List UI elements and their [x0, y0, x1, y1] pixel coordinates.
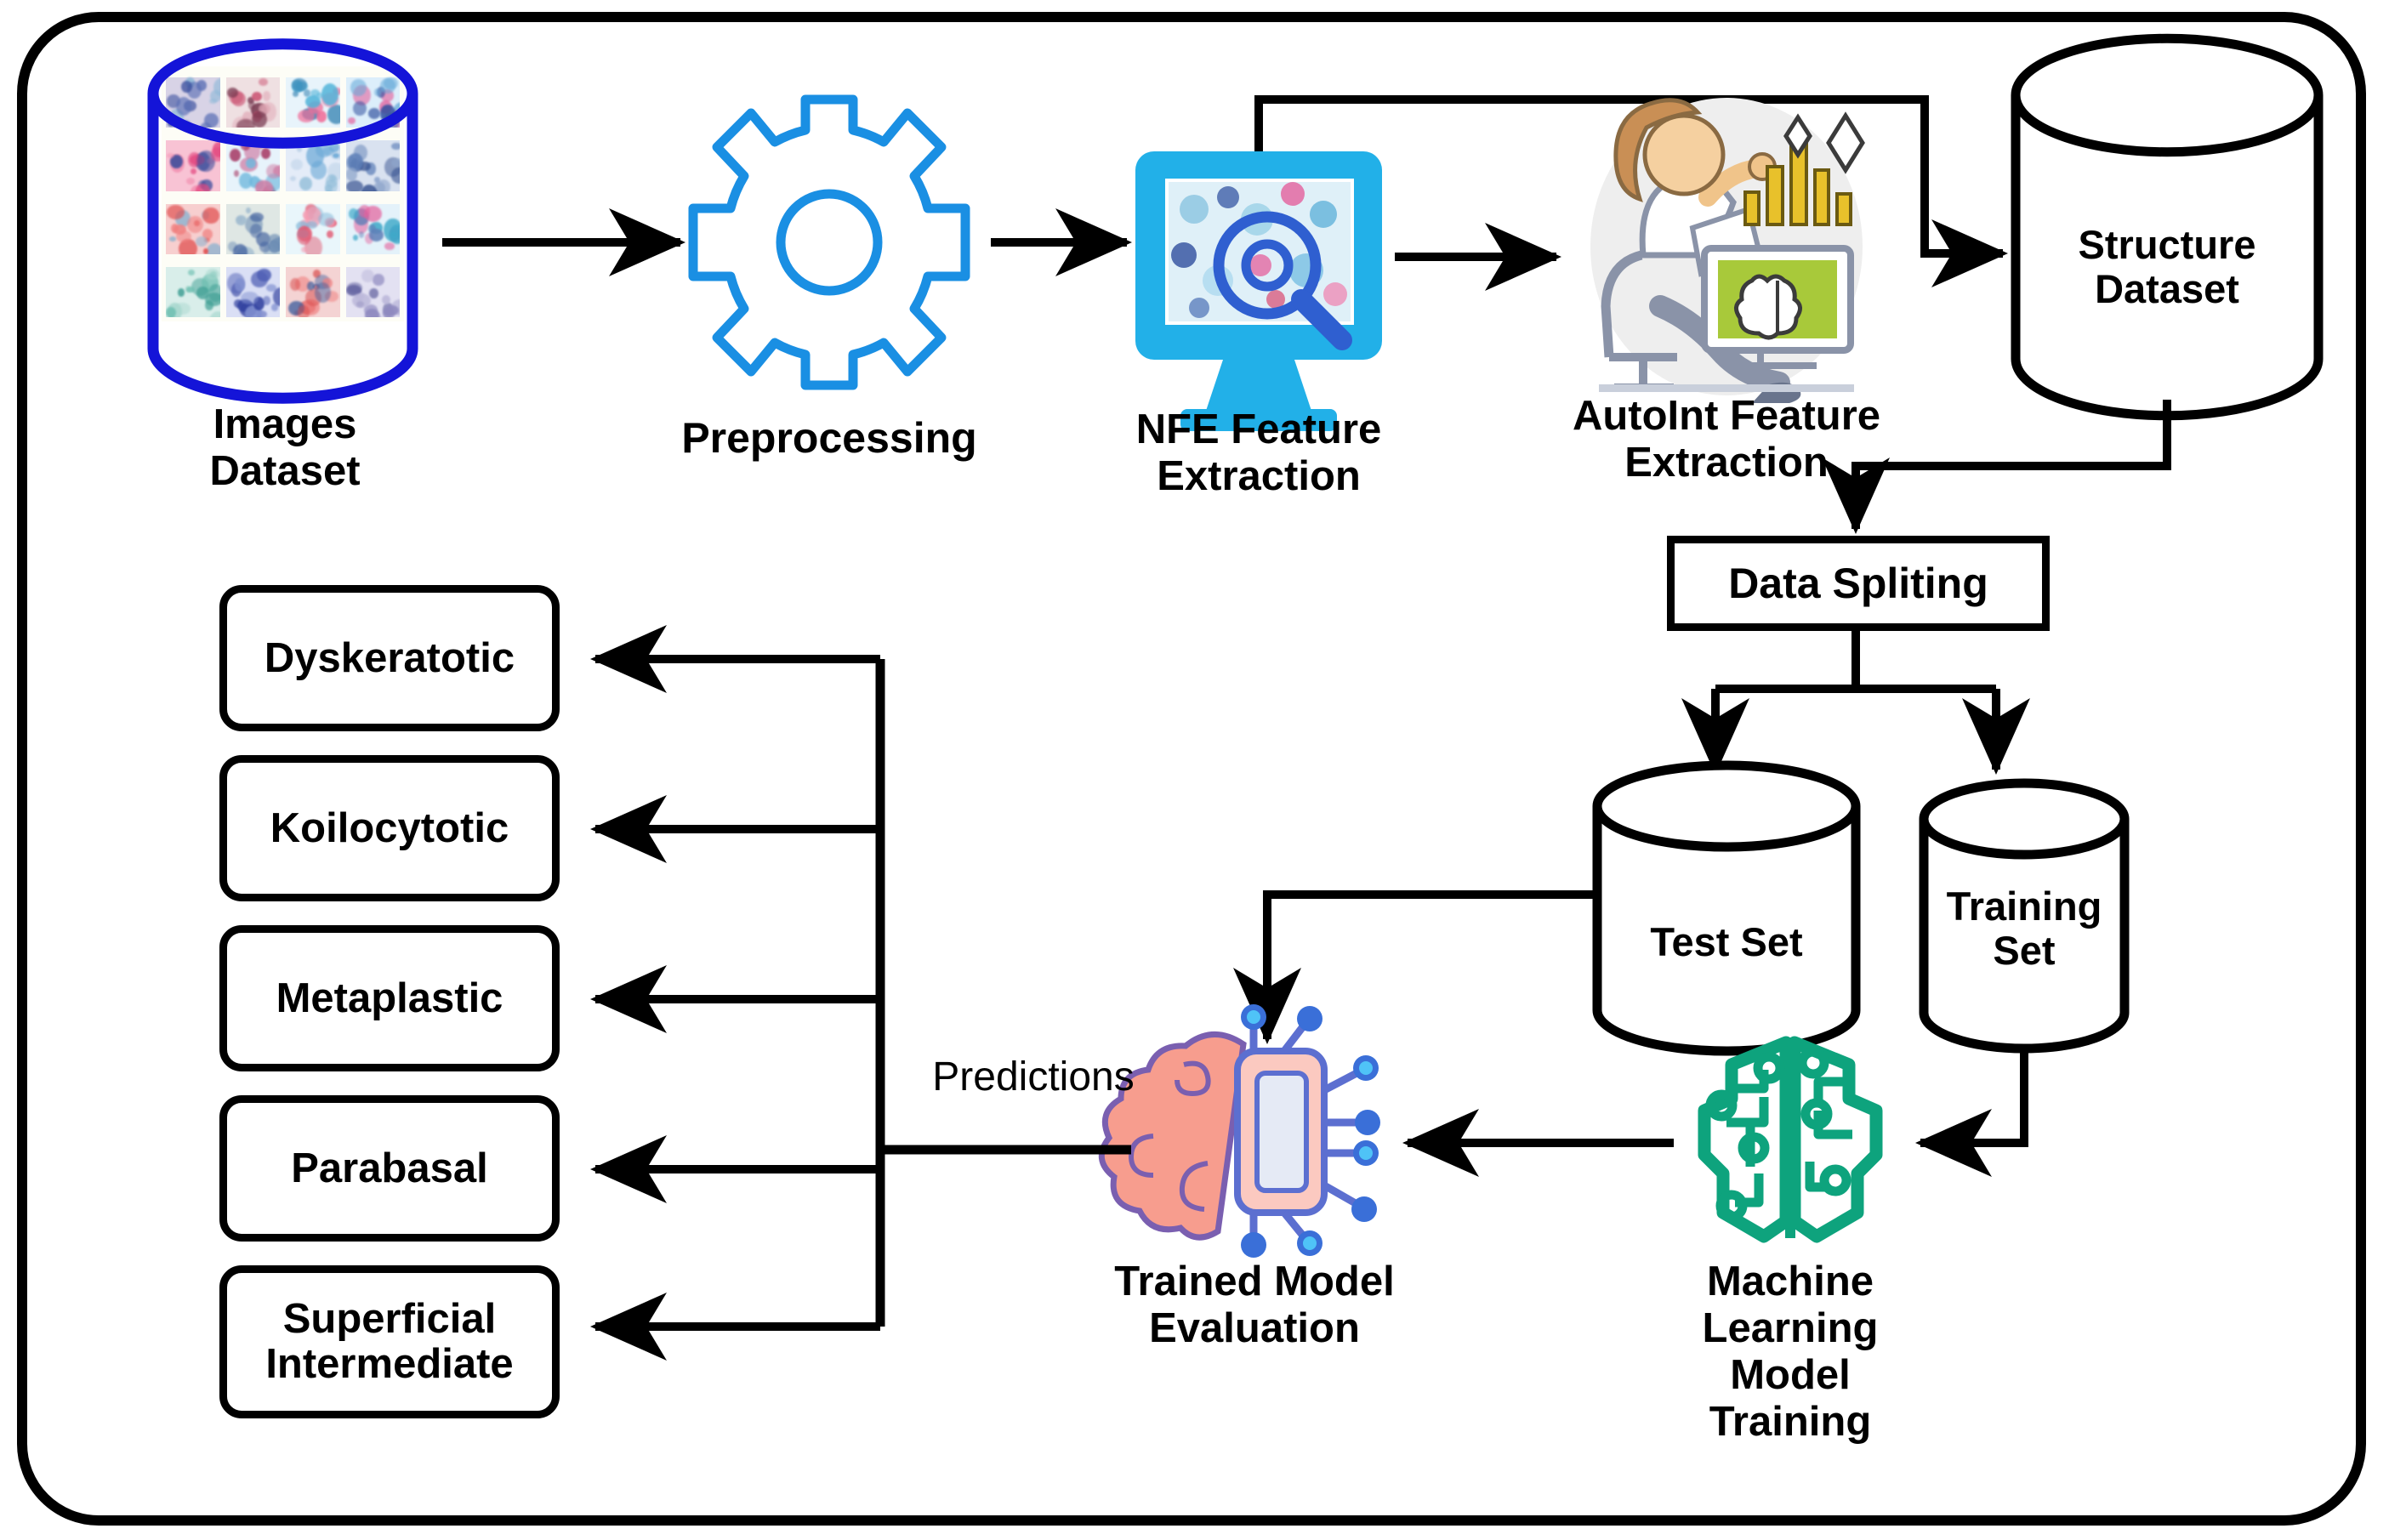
training-set-label: Training Set: [1920, 884, 2128, 972]
autoint-label: AutoInt Feature Extraction: [1501, 393, 1952, 486]
histology-thumbnail: [346, 71, 401, 128]
class-box-koilocytotic[interactable]: Koilocytotic: [219, 755, 560, 901]
histology-thumbnail: [166, 197, 220, 254]
data-splitting-box[interactable]: Data Spliting: [1667, 536, 2050, 631]
histology-thumbnail: [286, 197, 340, 254]
class-label-superficial-intermediate: Superficial Intermediate: [265, 1297, 513, 1387]
class-label-metaplastic: Metaplastic: [276, 976, 503, 1021]
class-box-parabasal[interactable]: Parabasal: [219, 1095, 560, 1242]
histology-thumbnail: [346, 134, 401, 190]
images-dataset-label: Images Dataset: [136, 401, 434, 495]
class-box-superficial-intermediate[interactable]: Superficial Intermediate: [219, 1265, 560, 1418]
histology-thumbnail: [226, 260, 281, 317]
class-label-dyskeratotic: Dyskeratotic: [264, 636, 515, 681]
predictions-label: Predictions: [893, 1054, 1174, 1100]
histology-thumbnail: [166, 260, 220, 317]
histology-thumbnail: [226, 134, 281, 190]
histology-thumbnail: [166, 134, 220, 190]
evaluation-label: Trained Model Evaluation: [1067, 1259, 1442, 1352]
images-thumbnail-grid: [162, 66, 404, 321]
class-label-koilocytotic: Koilocytotic: [270, 806, 509, 851]
histology-thumbnail: [226, 197, 281, 254]
class-box-metaplastic[interactable]: Metaplastic: [219, 925, 560, 1071]
histology-thumbnail: [346, 260, 401, 317]
histology-thumbnail: [286, 71, 340, 128]
data-splitting-label: Data Spliting: [1728, 559, 1988, 608]
class-box-dyskeratotic[interactable]: Dyskeratotic: [219, 585, 560, 731]
class-label-parabasal: Parabasal: [291, 1146, 488, 1191]
test-set-label: Test Set: [1607, 920, 1846, 964]
structure-dataset-label: Structure Dataset: [2039, 223, 2295, 310]
histology-thumbnail: [346, 197, 401, 254]
ml-training-label: Machine Learning Model Training: [1637, 1259, 1943, 1446]
histology-thumbnail: [286, 134, 340, 190]
nfe-label: NFE Feature Extraction: [1080, 406, 1437, 500]
diagram-canvas: Images Dataset Preprocessing NFE Feature…: [0, 0, 2389, 1540]
histology-thumbnail: [166, 71, 220, 128]
preprocessing-label: Preprocessing: [621, 414, 1038, 462]
histology-thumbnail: [286, 260, 340, 317]
histology-thumbnail: [226, 71, 281, 128]
